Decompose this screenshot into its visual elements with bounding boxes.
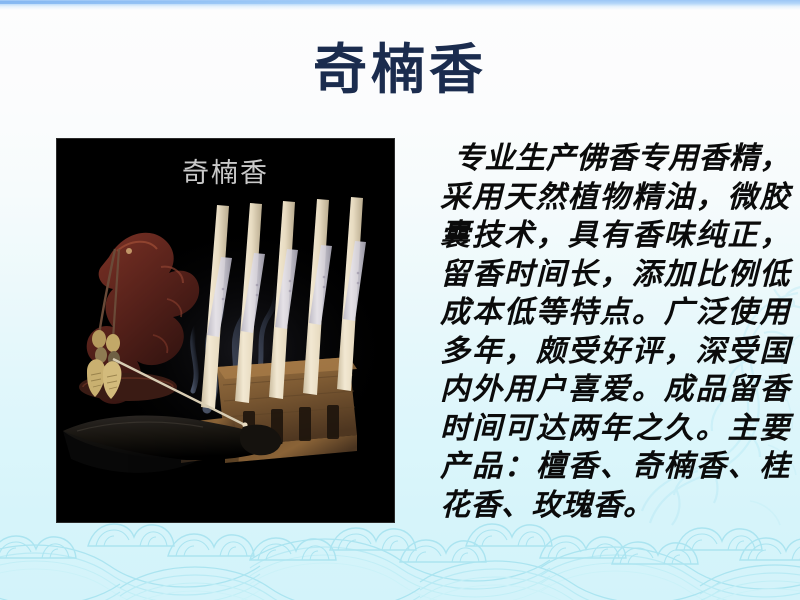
product-photo-illustration: [57, 139, 394, 522]
photo-caption: 奇楠香: [57, 157, 394, 191]
product-photo: 奇楠香: [57, 139, 394, 522]
top-accent-strip: [0, 0, 800, 10]
page-title: 奇楠香: [0, 38, 800, 100]
body-paragraph: 专业生产佛香专用香精，采用天然植物精油，微胶囊技术，具有香味纯正，留香时间长，添…: [440, 140, 790, 525]
slide-canvas: 奇楠香: [0, 0, 800, 600]
